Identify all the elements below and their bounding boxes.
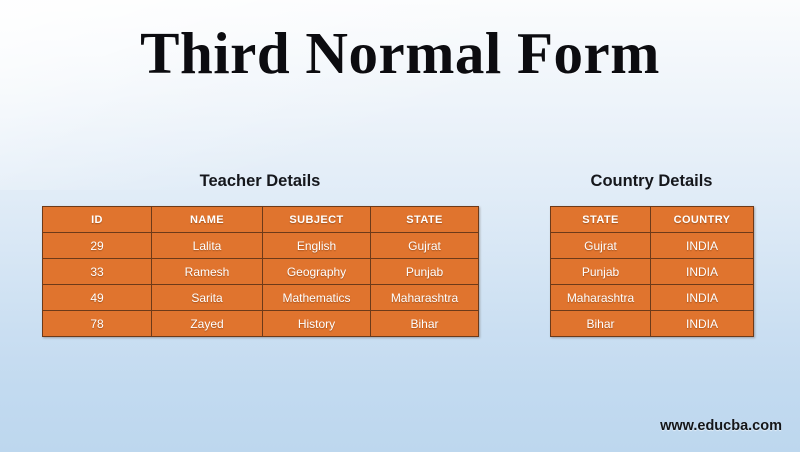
teacher-details-table: ID NAME SUBJECT STATE 29 Lalita English … bbox=[42, 206, 479, 337]
cell-subject: Geography bbox=[263, 259, 371, 285]
table-row: 33 Ramesh Geography Punjab bbox=[43, 259, 479, 285]
cell-country: INDIA bbox=[651, 285, 754, 311]
website-watermark: www.educba.com bbox=[660, 418, 782, 434]
cell-state: Punjab bbox=[371, 259, 479, 285]
cell-state: Gujrat bbox=[551, 233, 651, 259]
column-header-subject: SUBJECT bbox=[263, 207, 371, 233]
cell-state: Punjab bbox=[551, 259, 651, 285]
country-table-heading: Country Details bbox=[550, 171, 753, 191]
cell-country: INDIA bbox=[651, 311, 754, 337]
cell-subject: Mathematics bbox=[263, 285, 371, 311]
cell-id: 33 bbox=[43, 259, 152, 285]
table-row: 49 Sarita Mathematics Maharashtra bbox=[43, 285, 479, 311]
table-header-row: ID NAME SUBJECT STATE bbox=[43, 207, 479, 233]
table-row: Bihar INDIA bbox=[551, 311, 754, 337]
cell-state: Maharashtra bbox=[371, 285, 479, 311]
column-header-state: STATE bbox=[371, 207, 479, 233]
cell-name: Sarita bbox=[152, 285, 263, 311]
page-title: Third Normal Form bbox=[0, 21, 800, 85]
cell-country: INDIA bbox=[651, 233, 754, 259]
cell-country: INDIA bbox=[651, 259, 754, 285]
cell-id: 49 bbox=[43, 285, 152, 311]
teacher-table-heading: Teacher Details bbox=[42, 171, 478, 191]
cell-id: 29 bbox=[43, 233, 152, 259]
cell-name: Zayed bbox=[152, 311, 263, 337]
table-row: Gujrat INDIA bbox=[551, 233, 754, 259]
table-row: 78 Zayed History Bihar bbox=[43, 311, 479, 337]
column-header-state: STATE bbox=[551, 207, 651, 233]
cell-subject: English bbox=[263, 233, 371, 259]
cell-id: 78 bbox=[43, 311, 152, 337]
cell-name: Ramesh bbox=[152, 259, 263, 285]
cell-state: Bihar bbox=[371, 311, 479, 337]
table-header-row: STATE COUNTRY bbox=[551, 207, 754, 233]
cell-state: Gujrat bbox=[371, 233, 479, 259]
column-header-name: NAME bbox=[152, 207, 263, 233]
slide-canvas: Third Normal Form Teacher Details ID NAM… bbox=[0, 0, 800, 452]
column-header-country: COUNTRY bbox=[651, 207, 754, 233]
cell-state: Bihar bbox=[551, 311, 651, 337]
table-row: Maharashtra INDIA bbox=[551, 285, 754, 311]
table-row: Punjab INDIA bbox=[551, 259, 754, 285]
cell-state: Maharashtra bbox=[551, 285, 651, 311]
table-row: 29 Lalita English Gujrat bbox=[43, 233, 479, 259]
country-details-table: STATE COUNTRY Gujrat INDIA Punjab INDIA … bbox=[550, 206, 754, 337]
cell-name: Lalita bbox=[152, 233, 263, 259]
column-header-id: ID bbox=[43, 207, 152, 233]
cell-subject: History bbox=[263, 311, 371, 337]
